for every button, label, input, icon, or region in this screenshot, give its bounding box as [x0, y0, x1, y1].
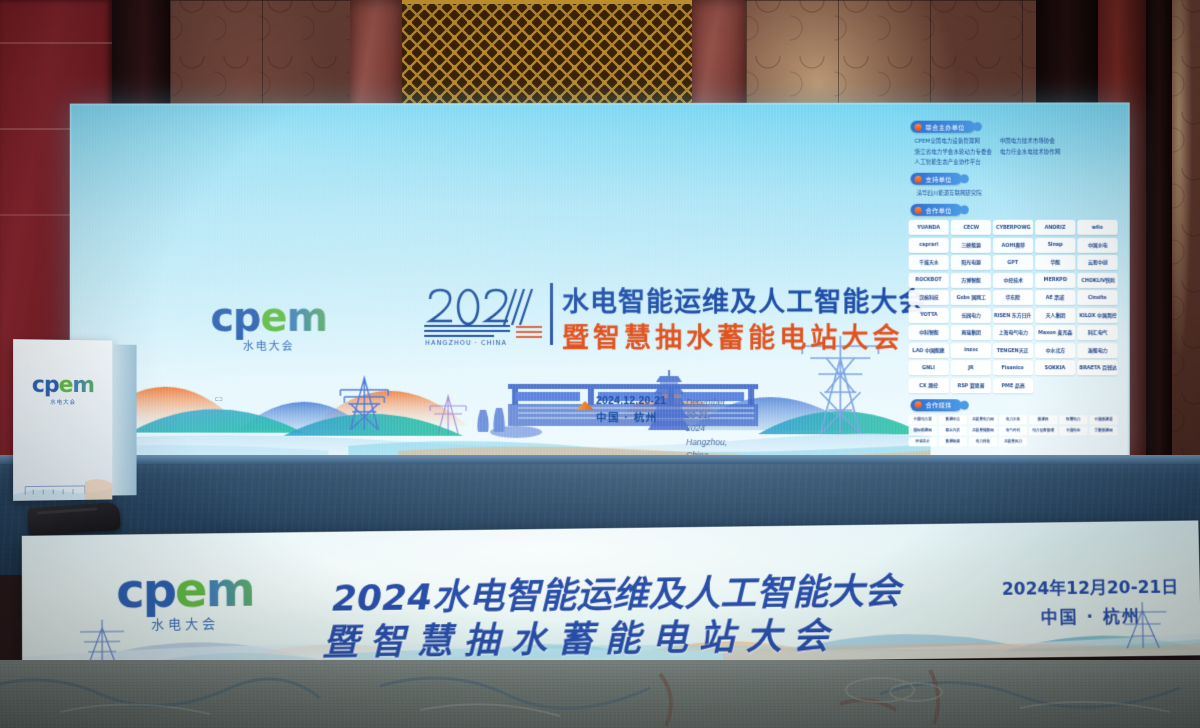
- sponsor-logo-label: LAO 中国能建: [912, 347, 944, 354]
- sponsor-logo-label: RSP 赛思普: [957, 382, 984, 389]
- cpem-wordmark: cpem: [209, 299, 329, 337]
- media-tag-label: 合作媒体: [926, 400, 952, 409]
- sponsor-logo-cell: 南瑞集团: [951, 325, 991, 340]
- tag-tail-decoration: [960, 205, 969, 214]
- tile-ogee-pattern-far: [1172, 0, 1200, 500]
- sponsor-logo-label: Gsbs 国网工: [956, 294, 985, 301]
- sponsor-logo-cell: wilo: [1078, 220, 1118, 235]
- sponsor-logo-cell: CECW: [951, 220, 991, 235]
- sponsor-logo-label: KILOX 中国昊控: [1079, 312, 1116, 319]
- sponsor-logo-cell: CX 测控: [909, 378, 949, 393]
- sponsor-logo-label: CX 测控: [919, 382, 938, 389]
- sponsor-logo-label: 天人集团: [1046, 312, 1065, 319]
- wall-dark-edge: [1146, 0, 1172, 500]
- sponsor-logo-label: YUANDA: [917, 225, 940, 231]
- organizer-line: 人工智能生态产业协作平台: [915, 158, 992, 166]
- media-logo-cell: 北极星风力: [999, 437, 1027, 446]
- media-logo-cell: 北极星储能网: [969, 426, 997, 435]
- sponsor-logo-cell: AE 昂逑: [1035, 290, 1075, 305]
- sponsor-logo-label: CECW: [963, 225, 979, 231]
- sponsor-logo-label: Fisanico: [1002, 365, 1024, 371]
- cpem-m-letter: m: [287, 295, 328, 341]
- organizer-line: 电力行业水电技术协作网: [1000, 147, 1061, 155]
- sponsor-logo-label: YOTTA: [920, 312, 937, 318]
- sponsor-logo-cell: 华能: [1035, 255, 1075, 270]
- media-logo-label: 索比光伏: [946, 428, 960, 433]
- section-tag-sponsors: 合作单位: [911, 204, 962, 216]
- media-logo-label: 北极星储能网: [972, 428, 994, 433]
- banner-e-letter: e: [175, 562, 206, 618]
- media-logo-label: 电气时代: [1006, 428, 1020, 433]
- year-logo-svg: HANGZHOU · CHINA: [420, 281, 548, 347]
- media-logo-cell: 能源杂志: [939, 415, 967, 424]
- led-date-en-block: December 20-21, 2024 Hangzhou, China: [686, 396, 727, 459]
- sponsor-logo-cell: Sinap: [1035, 237, 1075, 252]
- sponsor-logo-label: AE 昂逑: [1046, 294, 1064, 301]
- sponsor-logo-cell: CHOKLIV快利: [1078, 272, 1118, 287]
- sponsor-logo-cell: 天人集团: [1035, 308, 1075, 323]
- sponsor-logo-label: 三峡能源: [961, 242, 980, 249]
- speaker-podium[interactable]: cpem 水电大会 ⊏⊐: [13, 339, 136, 501]
- sponsor-logo-cell: caprari: [909, 237, 949, 252]
- sponsor-logo-cell: CYBERPOWG: [993, 220, 1033, 235]
- bullet-dot-icon: [915, 206, 922, 213]
- sponsor-logo-label: MERKPD: [1044, 277, 1067, 283]
- sponsor-logo-label: wilo: [1092, 224, 1103, 230]
- media-logo-grid: 中国电力报能源杂志北极星电力网电力头条能源界智慧电力中国能源报国际能源网索比光伏…: [909, 415, 1118, 446]
- media-logo-cell: 中国电力报: [909, 415, 937, 424]
- media-logo-cell: 能源新媒: [939, 437, 967, 446]
- sponsor-logo-cell: JR: [951, 360, 991, 375]
- sponsor-logo-cell: 科汇电气: [1078, 325, 1118, 340]
- banner-date-line1: 2024年12月20-21日: [1002, 573, 1179, 600]
- sponsor-logo-cell: 华东院: [993, 290, 1033, 305]
- sponsor-logo-cell: YOTTA: [909, 308, 949, 323]
- media-logo-label: 电力设备管理: [1032, 428, 1054, 433]
- media-logo-label: 智慧电力: [1066, 417, 1080, 422]
- sponsor-logo-cell: YUANDA: [909, 220, 949, 235]
- title-divider-bar: [550, 283, 553, 345]
- sponsor-logo-label: TENGEN天正: [997, 347, 1029, 354]
- supporters-tag-label: 支持单位: [926, 174, 952, 183]
- banner-date-line2: 中国 · 杭州: [1002, 602, 1179, 629]
- led-title-line1: 水电智能运维及人工智能大会: [562, 280, 927, 319]
- media-logo-label: 中国能源报: [1095, 417, 1113, 422]
- media-logo-cell: 能源界: [1029, 415, 1057, 424]
- sponsor-logo-cell: 中国水电: [1078, 237, 1118, 252]
- sponsor-logo-cell: 中水北方: [1035, 343, 1075, 358]
- organizers-col-1: CPEM全国电力设备管理网 浙江省电力学会水轮动力专委会 人工智能生态产业协作平…: [915, 137, 992, 166]
- organizer-line: CPEM全国电力设备管理网: [915, 137, 992, 145]
- sponsor-logo-cell: TENGEN天正: [993, 343, 1033, 358]
- sponsor-logo-label: 浙能电力: [1088, 347, 1107, 354]
- sponsor-logo-label: 中水北方: [1046, 347, 1065, 354]
- media-logo-label: 北极星电力网: [972, 417, 994, 422]
- media-logo-label: 北极星风力: [1004, 439, 1022, 444]
- media-logo-cell: 中国电业: [1059, 426, 1087, 435]
- media-logo-cell: 国际能源网: [909, 426, 937, 435]
- sponsor-logo-cell: AOHI奥菲: [993, 237, 1033, 252]
- banner-m-letter: m: [205, 562, 253, 619]
- sponsor-logo-cell: Maxon 麦克森: [1035, 325, 1075, 340]
- wall-tile-far-right: [1172, 0, 1200, 500]
- media-logo-label: 能源界: [1038, 417, 1049, 422]
- banner-cp-letters: cp: [116, 563, 175, 620]
- media-logo-label: 电力头条: [1006, 417, 1020, 422]
- sponsor-logo-label: BRAETA 百锐达: [1079, 364, 1116, 371]
- led-date-cn: 2024.12.20-21: [596, 395, 666, 407]
- media-logo-label: 环球表计: [915, 439, 929, 444]
- sponsor-logo-cell: KILOX 中国昊控: [1078, 308, 1118, 323]
- media-logo-cell: 中国能源报: [1089, 415, 1117, 424]
- venue-floor-carpet: [0, 660, 1200, 728]
- podium-illustration: [13, 460, 112, 501]
- sponsor-logo-label: 华东院: [1006, 294, 1021, 301]
- sponsor-logo-label: GNLI: [922, 365, 935, 371]
- sponsor-logo-cell: ANDRIZ: [1035, 220, 1075, 235]
- sponsor-logo-label: AOHI奥菲: [1001, 242, 1024, 249]
- organizers-tag-label: 联合主办单位: [926, 122, 965, 131]
- supporter-line: 清华四川能源互联网研究院: [917, 189, 1120, 197]
- media-logo-cell: 电气时代: [999, 426, 1027, 435]
- media-logo-cell: 华夏能源网: [1089, 426, 1117, 435]
- media-logo-label: 国际能源网: [914, 428, 932, 433]
- sponsor-logo-cell: 汉格科技: [909, 290, 949, 305]
- media-logo-cell: 北极星电力网: [969, 415, 997, 424]
- sponsor-logo-cell: 云思中创: [1078, 255, 1118, 270]
- sponsor-panel: 联合主办单位 CPEM全国电力设备管理网 浙江省电力学会水轮动力专委会 人工智能…: [907, 120, 1120, 452]
- sponsor-logo-label: 阳光电源: [961, 259, 980, 266]
- sponsor-logo-label: Cinsite: [1088, 295, 1107, 301]
- organizer-line: 浙江省电力学会水轮动力专委会: [915, 147, 992, 155]
- stage-front-edge: [0, 455, 1200, 464]
- bullet-dot-icon: [915, 401, 922, 408]
- sponsor-logo-grid: YUANDACECWCYBERPOWGANDRIZwilocaprari三峡能源…: [909, 220, 1118, 393]
- sponsor-logo-cell: Gsbs 国网工: [951, 290, 991, 305]
- sponsor-logo-label: GPT: [1008, 260, 1019, 266]
- led-title-line2: 暨智慧抽水蓄能电站大会: [562, 316, 904, 355]
- sponsor-logo-cell: ROCKBOT: [909, 272, 949, 287]
- podium-subtitle: 水电大会: [32, 398, 94, 406]
- sponsor-logo-label: 上海电气电力: [998, 329, 1027, 336]
- sponsor-logo-label: Sinap: [1048, 242, 1063, 248]
- sponsor-logo-cell: BRAETA 百锐达: [1078, 360, 1118, 375]
- sponsors-tag-label: 合作单位: [926, 205, 952, 214]
- sponsor-logo-cell: 浙能电力: [1078, 343, 1118, 358]
- sponsor-logo-label: caprari: [919, 242, 938, 248]
- led-stage-screen: cpem 水电大会 HANGZHOU · CHIN: [70, 102, 1130, 458]
- banner-cpem-wordmark: cpem: [110, 568, 260, 616]
- podium-side-face: ⊏⊐: [112, 344, 136, 495]
- podium-e: e: [59, 373, 73, 398]
- media-logo-label: 电力科技: [976, 439, 990, 444]
- sponsor-logo-label: JR: [968, 365, 973, 371]
- media-logo-label: 能源杂志: [946, 417, 960, 422]
- conference-stage-scene: cpem 水电大会 HANGZHOU · CHIN: [0, 0, 1200, 728]
- bullet-dot-icon: [915, 123, 922, 130]
- tag-tail-decoration: [960, 174, 969, 183]
- sponsor-logo-cell: SOKKIA: [1035, 360, 1075, 375]
- led-city-cn: 中国 · 杭州: [596, 410, 666, 425]
- sponsor-logo-cell: 中科智能: [909, 325, 949, 340]
- sponsor-logo-label: 千城天水: [919, 259, 938, 266]
- podium-front-face: cpem 水电大会: [13, 339, 112, 501]
- section-tag-organizers: 联合主办单位: [911, 121, 975, 133]
- podium-cpem-logo: cpem 水电大会: [32, 376, 94, 406]
- year-logo-2024: HANGZHOU · CHINA: [420, 281, 548, 347]
- banner-cpem-logo: cpem 水电大会: [110, 568, 260, 634]
- sponsor-logo-label: 南瑞集团: [961, 329, 980, 336]
- sponsor-logo-cell: 上海电气电力: [993, 325, 1033, 340]
- sponsor-logo-cell: RSP 赛思普: [951, 378, 991, 393]
- sponsor-logo-cell: GPT: [993, 255, 1033, 270]
- carpet-fiber-texture: [0, 660, 1200, 728]
- sponsor-logo-label: 中国水电: [1088, 242, 1107, 249]
- sponsor-logo-cell: MERKPD: [1035, 272, 1075, 287]
- led-date-block: 2024.12.20-21 中国 · 杭州 December 20-21, 20…: [596, 395, 666, 425]
- sponsor-logo-label: SOKKIA: [1045, 365, 1066, 371]
- sponsor-logo-label: 万博智能: [961, 277, 980, 284]
- podium-m: m: [72, 373, 94, 398]
- media-logo-label: 中国电力报: [914, 417, 932, 422]
- tag-tail-decoration: [960, 400, 969, 409]
- sponsor-logo-label: RISEN 东方日升: [994, 312, 1031, 319]
- sponsor-logo-label: CYBERPOWG: [996, 225, 1031, 231]
- media-logo-cell: 索比光伏: [939, 426, 967, 435]
- organizer-line: 中国电力技术市场协会: [1000, 137, 1061, 145]
- sponsor-logo-cell: Fisanico: [993, 360, 1033, 375]
- banner-title-line2: 暨智慧抽水蓄能电站大会: [322, 607, 840, 666]
- sponsor-logo-label: ANDRIZ: [1045, 224, 1066, 230]
- sponsor-logo-label: PME 品高: [1002, 382, 1025, 389]
- section-tag-supporters: 支持单位: [911, 173, 962, 185]
- sponsor-logo-cell: RISEN 东方日升: [993, 308, 1033, 323]
- sponsor-logo-cell: LAO 中国能建: [909, 343, 949, 358]
- sponsor-logo-cell: PME 品高: [993, 378, 1033, 393]
- sponsor-logo-cell: 三峡能源: [951, 237, 991, 252]
- sponsor-logo-label: inzoc: [964, 347, 978, 353]
- cpem-e-letter: e: [260, 295, 286, 341]
- led-date-en: December 20-21, 2024: [686, 396, 727, 436]
- sponsor-logo-label: 中控技术: [1003, 277, 1022, 284]
- sponsor-logo-cell: 万博智能: [951, 272, 991, 287]
- year-logo-caption: HANGZHOU · CHINA: [425, 339, 507, 347]
- sponsor-logo-cell: 长园电力: [951, 308, 991, 323]
- bullet-dot-icon: [915, 175, 922, 182]
- media-logo-cell: 电力科技: [969, 437, 997, 446]
- tag-tail-decoration: [973, 122, 982, 131]
- banner-date-block: 2024年12月20-21日 中国 · 杭州: [1002, 573, 1179, 629]
- media-logo-label: 能源新媒: [946, 439, 960, 444]
- sponsor-logo-label: 长园电力: [961, 312, 980, 319]
- podium-cp: cp: [32, 373, 59, 398]
- organizers-columns: CPEM全国电力设备管理网 浙江省电力学会水轮动力专委会 人工智能生态产业协作平…: [915, 137, 1120, 166]
- sponsor-logo-label: 科汇电气: [1088, 329, 1107, 336]
- cpem-cp-letters: cp: [210, 295, 260, 341]
- stage-front-banner: cpem 水电大会 2024水电智能运维及人工智能大会 暨智慧抽水蓄能电站大会 …: [22, 520, 1200, 670]
- sponsor-logo-label: 中科智能: [919, 329, 938, 336]
- sponsor-logo-label: ROCKBOT: [915, 277, 941, 283]
- sponsor-logo-cell: Cinsite: [1078, 290, 1118, 305]
- sponsor-logo-cell: GNLI: [909, 360, 949, 375]
- media-logo-label: 中国电业: [1066, 428, 1080, 433]
- sponsor-logo-label: 华能: [1050, 259, 1060, 266]
- sponsor-logo-cell: 中控技术: [993, 272, 1033, 287]
- sponsor-logo-label: 云思中创: [1088, 259, 1107, 266]
- organizers-col-2: 中国电力技术市场协会 电力行业水电技术协作网: [1000, 137, 1061, 166]
- sponsor-logo-cell: inzoc: [951, 343, 991, 358]
- section-tag-media: 合作媒体: [911, 399, 962, 411]
- podium-cpem-wordmark: cpem: [32, 376, 94, 397]
- sponsor-logo-cell: 阳光电源: [951, 255, 991, 270]
- podium-side-marking: ⊏⊐: [215, 397, 223, 403]
- lattice-rail-top: [402, 0, 692, 4]
- sponsor-logo-cell: 千城天水: [909, 255, 949, 270]
- sponsor-logo-label: CHOKLIV快利: [1081, 277, 1115, 284]
- media-logo-cell: 智慧电力: [1059, 415, 1087, 424]
- media-logo-cell: 环球表计: [909, 437, 937, 446]
- media-logo-label: 华夏能源网: [1095, 428, 1113, 433]
- cpem-logo-led: cpem 水电大会: [209, 299, 329, 354]
- sponsor-logo-label: Maxon 麦克森: [1038, 329, 1072, 336]
- sponsor-logo-label: 汉格科技: [919, 294, 938, 301]
- media-logo-cell: 电力设备管理: [1029, 426, 1057, 435]
- media-logo-cell: 电力头条: [999, 415, 1027, 424]
